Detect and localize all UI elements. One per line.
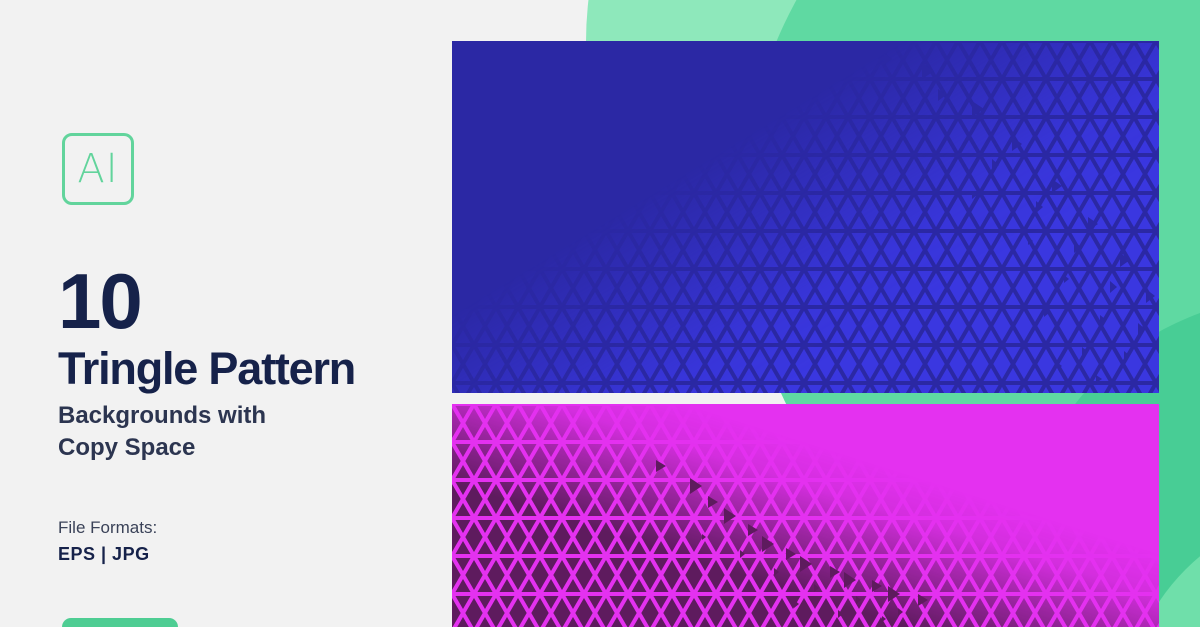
blue-triangle-pattern-preview[interactable] — [452, 41, 1159, 393]
preview-canvas: AI 10 Tringle Pattern Backgrounds with C… — [0, 0, 1200, 627]
pack-count: 10 — [58, 262, 141, 340]
magenta-pattern-svg — [452, 404, 1159, 627]
ai-badge-label: AI — [77, 149, 118, 189]
adobe-illustrator-badge: AI — [62, 133, 134, 205]
cta-button[interactable] — [62, 618, 178, 627]
magenta-triangle-pattern-preview[interactable] — [452, 404, 1159, 627]
page-subtitle-line-1: Backgrounds with — [58, 400, 266, 432]
file-formats-block: File Formats: EPS | JPG — [58, 516, 157, 567]
blue-pattern-svg — [452, 41, 1159, 393]
page-subtitle: Backgrounds with Copy Space — [58, 400, 266, 465]
page-subtitle-line-2: Copy Space — [58, 432, 266, 464]
info-column: AI 10 Tringle Pattern Backgrounds with C… — [0, 0, 452, 627]
page-title: Tringle Pattern — [58, 345, 355, 392]
file-formats-value: EPS | JPG — [58, 541, 157, 567]
file-formats-label: File Formats: — [58, 516, 157, 541]
